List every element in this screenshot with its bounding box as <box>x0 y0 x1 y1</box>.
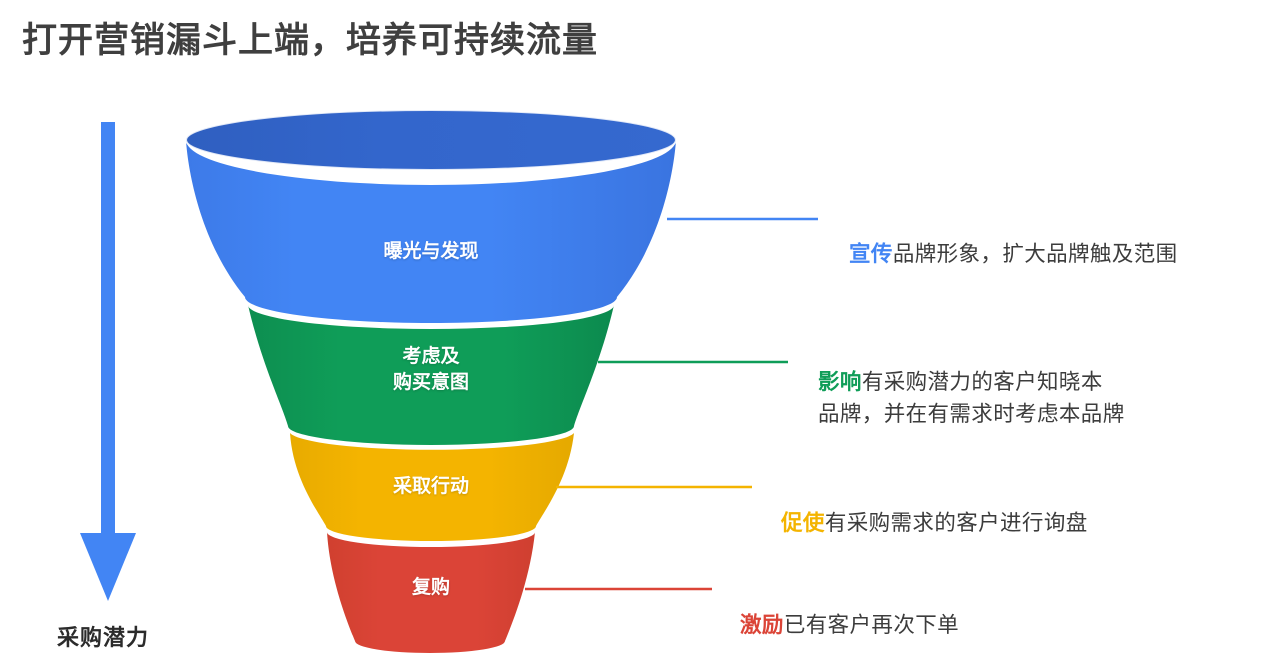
callout-exposure: 宣传品牌形象，扩大品牌触及范围 <box>849 205 1178 270</box>
funnel-segment-action <box>290 433 574 541</box>
funnel-diagram <box>0 0 1266 664</box>
callout-keyword-consideration: 影响 <box>818 370 862 394</box>
callout-repurchase: 激励已有客户再次下单 <box>740 576 959 641</box>
callout-action: 促使有采购需求的客户进行询盘 <box>781 474 1088 539</box>
callout-body-repurchase: 已有客户再次下单 <box>784 613 959 637</box>
callout-body-action: 有采购需求的客户进行询盘 <box>825 511 1088 535</box>
callout-body-consideration: 有采购潜力的客户知晓本 品牌，并在有需求时考虑本品牌 <box>818 370 1125 427</box>
callout-consideration: 影响有采购潜力的客户知晓本 品牌，并在有需求时考虑本品牌 <box>818 333 1125 431</box>
downward-arrow-icon <box>80 122 136 601</box>
funnel-segment-consideration <box>248 305 614 445</box>
callout-keyword-action: 促使 <box>781 511 825 535</box>
axis-label-purchasing-potential: 采购潜力 <box>57 620 149 652</box>
callout-keyword-repurchase: 激励 <box>740 613 784 637</box>
callout-keyword-exposure: 宣传 <box>849 242 893 266</box>
callout-body-exposure: 品牌形象，扩大品牌触及范围 <box>893 242 1178 266</box>
funnel-segment-repurchase <box>327 532 535 653</box>
funnel-segment-exposure <box>186 110 676 323</box>
